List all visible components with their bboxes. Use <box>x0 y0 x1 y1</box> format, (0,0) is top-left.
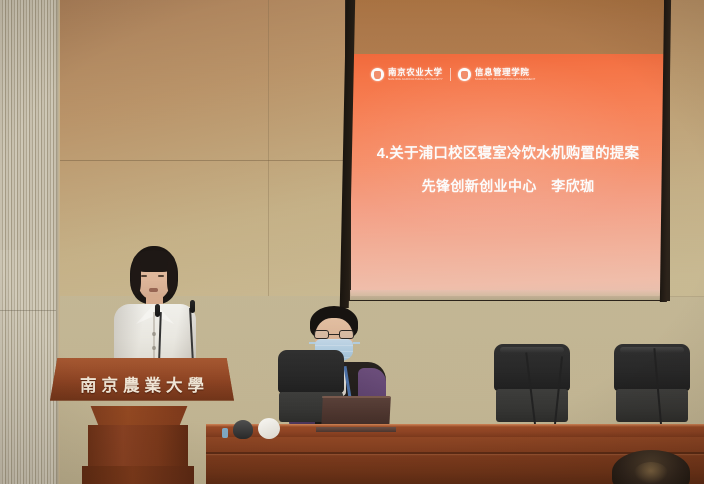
chair-backrest <box>614 344 690 391</box>
desk-item-dark <box>233 420 253 439</box>
desk-item-white <box>258 418 280 439</box>
podium-microphone-head-left[interactable] <box>155 304 160 317</box>
school-name-cn: 信息管理学院 <box>475 68 536 77</box>
podium-microphone-head-right[interactable] <box>190 300 195 313</box>
desk-item-bottle <box>222 428 228 438</box>
school-emblem-icon <box>458 68 471 81</box>
slat-panel-seam <box>0 310 58 311</box>
chair-backrest <box>278 350 344 393</box>
podium-nameplate: 南京農業大學 <box>50 372 234 396</box>
chair-highlight <box>500 347 564 354</box>
wall-seam-vertical <box>268 0 269 300</box>
presenter-eye-right <box>158 275 164 277</box>
slide-logo-row: 南京农业大学 NANJING AGRICULTURAL UNIVERSITY 信… <box>371 68 535 81</box>
slide-subtitle: 先锋创新创业中心 李欣珈 <box>351 176 665 196</box>
slide-title: 4.关于浦口校区寝室冷饮水机购置的提案 <box>351 142 665 163</box>
university-name-en: NANJING AGRICULTURAL UNIVERSITY <box>388 78 443 81</box>
university-logo: 南京农业大学 NANJING AGRICULTURAL UNIVERSITY <box>371 68 443 81</box>
stage-table-highlight <box>206 424 704 427</box>
logo-divider <box>450 68 451 81</box>
chair-seat <box>616 389 689 422</box>
projected-slide: 南京农业大学 NANJING AGRICULTURAL UNIVERSITY 信… <box>351 54 665 296</box>
presenter-hair-left <box>131 260 141 294</box>
glasses-bridge <box>329 334 339 335</box>
slat-panel-edge <box>56 0 60 484</box>
school-logo: 信息管理学院 SCHOOL OF INFORMATION MANAGEMENT <box>458 68 536 81</box>
presenter-eye-left <box>141 275 147 277</box>
presenter-hair-right <box>167 260 177 294</box>
university-emblem-icon <box>371 68 384 81</box>
university-name-cn: 南京农业大学 <box>388 68 443 77</box>
school-name-en: SCHOOL OF INFORMATION MANAGEMENT <box>475 78 536 81</box>
mask-strap-right <box>353 342 360 344</box>
screen-bottom-edge <box>350 290 665 300</box>
projector-glow <box>351 54 665 296</box>
audience-member-hair-highlight <box>634 462 668 484</box>
acoustic-slat-panel-upper <box>0 0 58 250</box>
glasses-lens-right <box>339 330 354 339</box>
chair[interactable] <box>614 344 690 422</box>
laptop-screen-rim <box>322 396 390 398</box>
podium-base-foot <box>82 466 194 484</box>
conference-hall-photo: 南京农业大学 NANJING AGRICULTURAL UNIVERSITY 信… <box>0 0 704 484</box>
school-logo-text: 信息管理学院 SCHOOL OF INFORMATION MANAGEMENT <box>475 68 536 80</box>
glasses-lens-left <box>314 330 329 339</box>
university-logo-text: 南京农业大学 NANJING AGRICULTURAL UNIVERSITY <box>388 68 443 80</box>
wall-seam-horizontal <box>58 160 348 161</box>
presenter-mouth <box>149 288 158 292</box>
glasses-icon <box>314 330 354 339</box>
laptop-base <box>316 427 396 432</box>
screen-unlit-top-band <box>350 0 664 58</box>
chair-highlight <box>620 347 684 354</box>
